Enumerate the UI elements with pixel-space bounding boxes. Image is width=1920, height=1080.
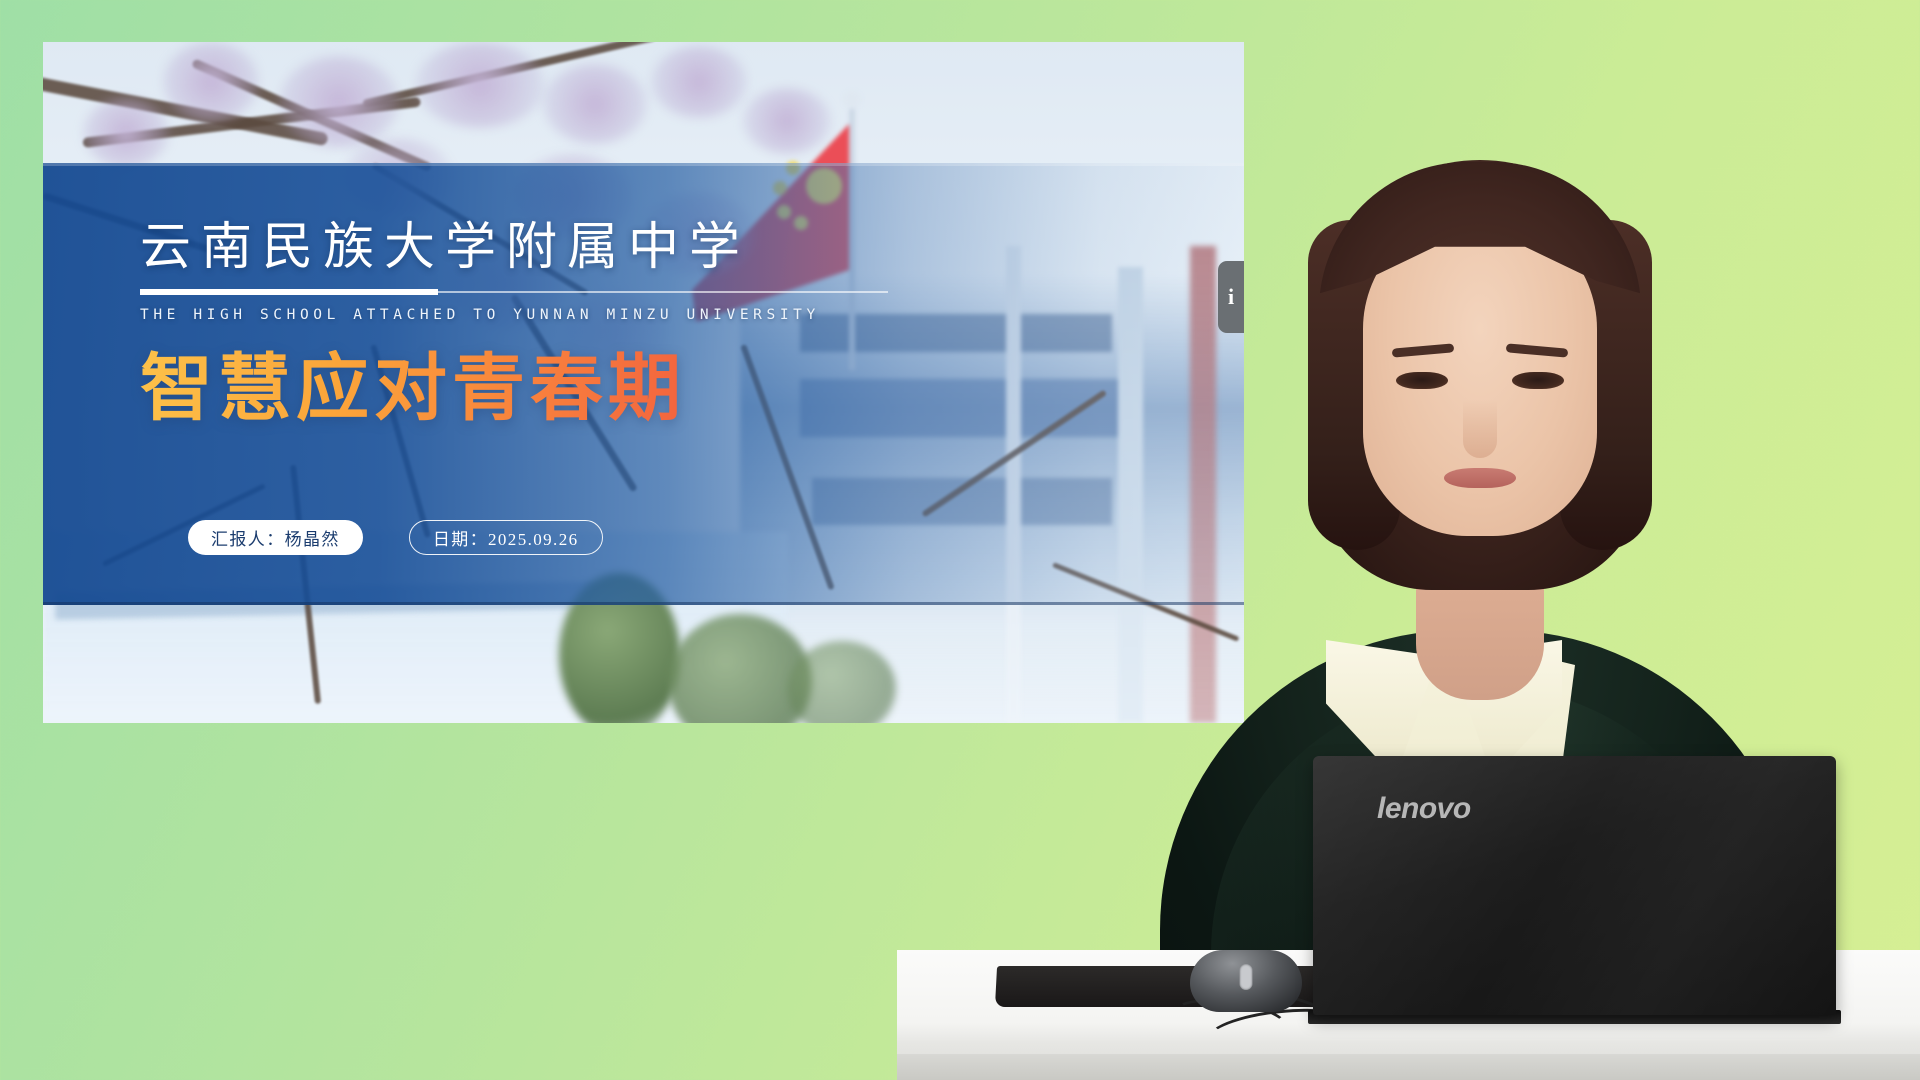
school-name-chinese: 云南民族大学附属中学 (140, 218, 900, 278)
banner-top-edge (43, 163, 1244, 166)
title-underline-thin (438, 291, 888, 293)
presentation-slide[interactable]: 云南民族大学附属中学 THE HIGH SCHOOL ATTACHED TO Y… (43, 42, 1244, 723)
school-name-english: THE HIGH SCHOOL ATTACHED TO YUNNAN MINZU… (140, 307, 900, 323)
title-underline-thick (140, 289, 438, 295)
title-underline (140, 287, 888, 296)
laptop[interactable]: lenovo (1313, 756, 1836, 1015)
presenter-nose (1463, 400, 1497, 458)
computer-mouse[interactable] (1190, 950, 1302, 1012)
slide-headline-block: 云南民族大学附属中学 THE HIGH SCHOOL ATTACHED TO Y… (140, 218, 900, 428)
presentation-title: 智慧应对青春期 (140, 350, 900, 427)
mouse-scroll-wheel[interactable] (1240, 964, 1253, 990)
laptop-brand-logo: lenovo (1377, 792, 1471, 826)
presenter-mouth (1444, 468, 1516, 488)
banner-bottom-edge (43, 602, 1244, 605)
date-pill: 日期：2025.09.26 (409, 520, 603, 555)
presenter-eye (1512, 372, 1564, 389)
slide-meta-row: 汇报人：杨晶然 日期：2025.09.26 (188, 520, 603, 555)
presenter-eye (1396, 372, 1448, 389)
presenter-pill: 汇报人：杨晶然 (188, 520, 363, 555)
